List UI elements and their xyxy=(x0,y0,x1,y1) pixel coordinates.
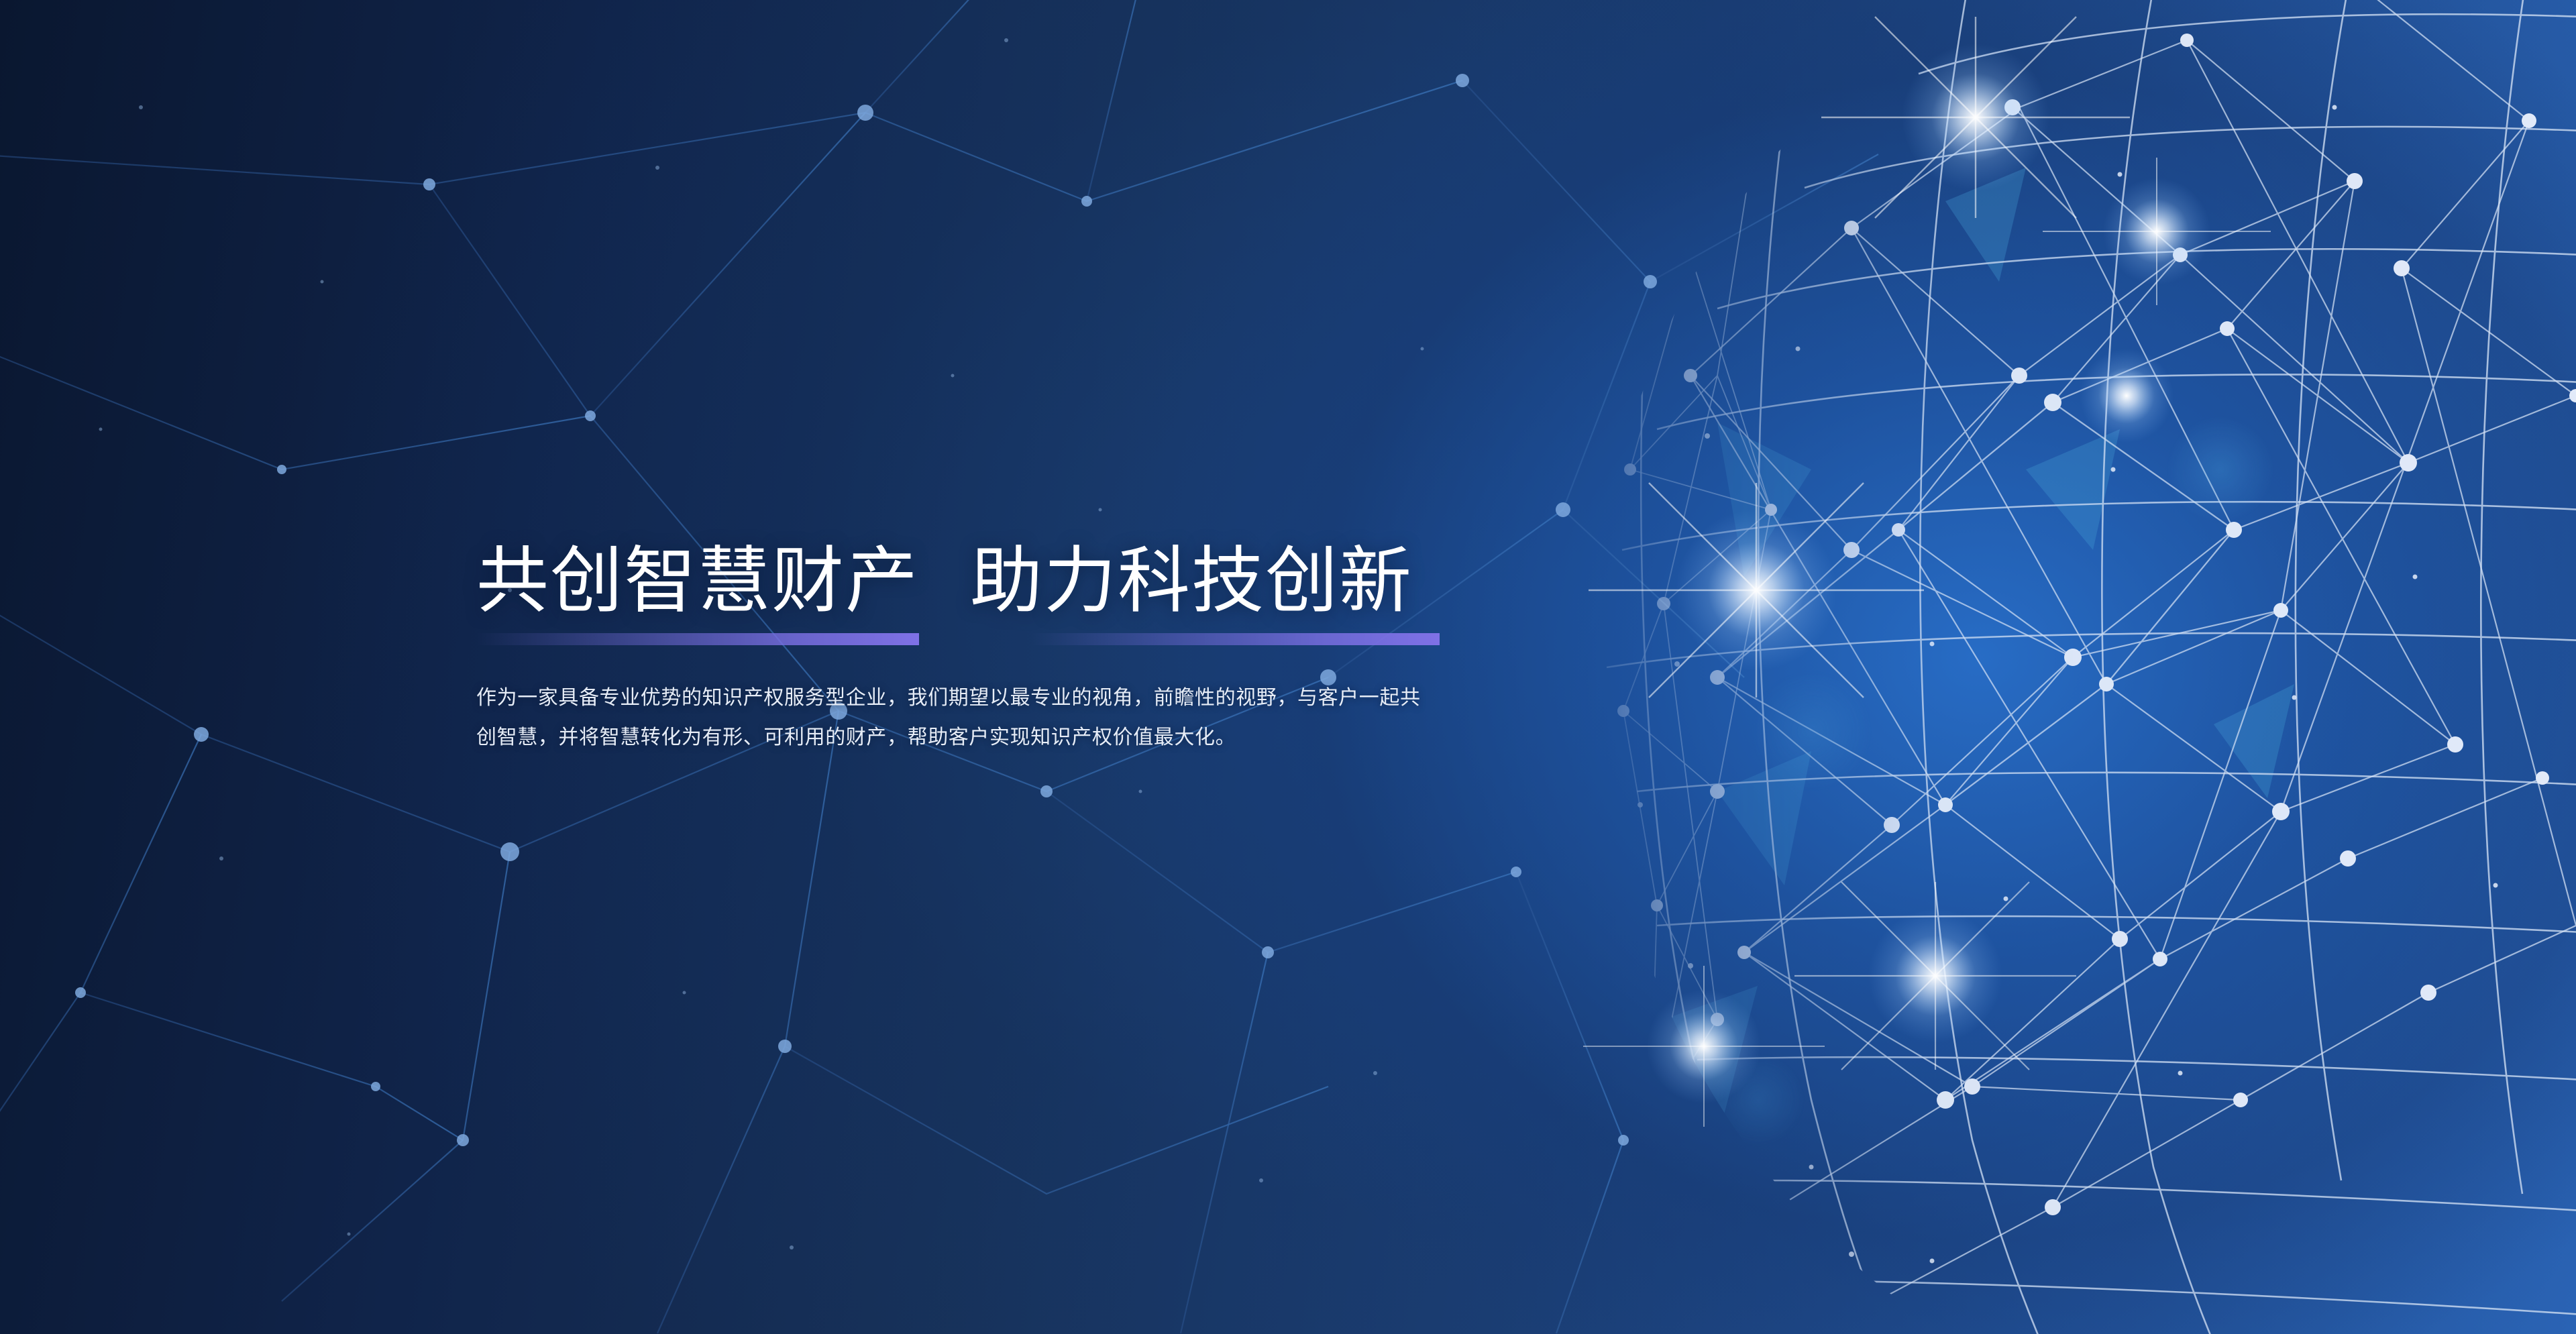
hero-copy: 共创智慧财产 助力科技创新 作为一家具备专业优势的知识产权服务型企业，我们期望以… xyxy=(476,545,1456,777)
headline-segment-1: 共创智慧财产 xyxy=(476,545,919,617)
headline-segment-2-text: 助力科技创新 xyxy=(970,540,1413,621)
hero-banner: 共创智慧财产 助力科技创新 作为一家具备专业优势的知识产权服务型企业，我们期望以… xyxy=(0,0,2576,1334)
headline-segment-2: 助力科技创新 xyxy=(970,545,1413,617)
accent-underline-1 xyxy=(476,633,919,645)
headline-segment-1-text: 共创智慧财产 xyxy=(476,540,919,621)
accent-underline-2 xyxy=(1032,633,1439,645)
page-title: 共创智慧财产 助力科技创新 xyxy=(476,545,1456,617)
hero-description: 作为一家具备专业优势的知识产权服务型企业，我们期望以最专业的视角，前瞻性的视野，… xyxy=(476,679,1436,757)
